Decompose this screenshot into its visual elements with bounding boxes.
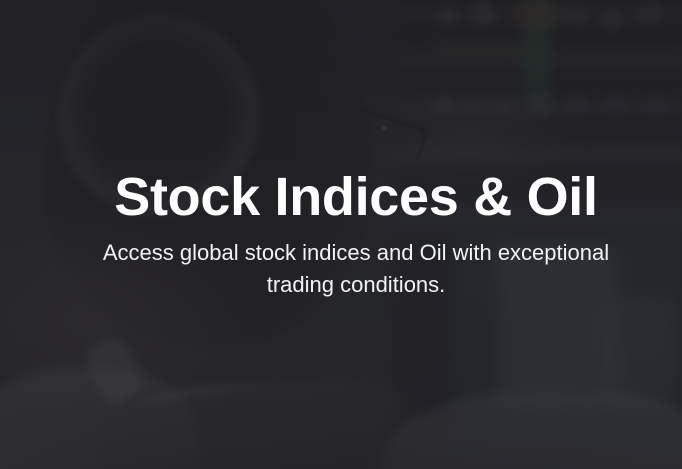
hero-title: Stock Indices & Oil — [114, 169, 597, 225]
hero-banner: Stock Indices & Oil Access global stock … — [0, 0, 682, 469]
hero-content: Stock Indices & Oil Access global stock … — [0, 0, 682, 469]
hero-subtitle: Access global stock indices and Oil with… — [86, 237, 626, 299]
